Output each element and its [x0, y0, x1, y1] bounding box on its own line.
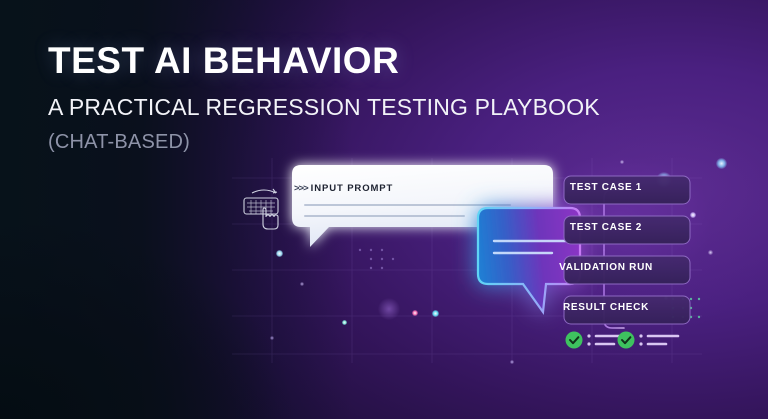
status-check-row-1: [566, 332, 625, 349]
chevron-marker: >>>: [294, 183, 308, 194]
illustration: >>>INPUT PROMPT TEST CASE 1 TEST CASE 2 …: [232, 158, 702, 363]
particle-glow: [716, 158, 727, 169]
flow-node-validation-run[interactable]: VALIDATION RUN: [550, 262, 662, 273]
page-title: TEST AI BEHAVIOR: [48, 42, 600, 81]
prompt-bubble-label-text: INPUT PROMPT: [311, 183, 394, 194]
page-tagline: (CHAT-BASED): [48, 131, 600, 153]
page-subtitle: A PRACTICAL REGRESSION TESTING PLAYBOOK: [48, 95, 600, 120]
dot-matrix-decoration-2: [359, 249, 394, 269]
prompt-bubble-label: >>>INPUT PROMPT: [294, 183, 393, 194]
flow-node-test-case-1[interactable]: TEST CASE 1: [550, 182, 662, 193]
banner-canvas: TEST AI BEHAVIOR A PRACTICAL REGRESSION …: [0, 0, 768, 419]
keyboard-hand-icon: [244, 189, 278, 229]
header-text-block: TEST AI BEHAVIOR A PRACTICAL REGRESSION …: [48, 42, 600, 153]
flow-node-result-check[interactable]: RESULT CHECK: [550, 302, 662, 313]
flow-node-test-case-2[interactable]: TEST CASE 2: [550, 222, 662, 233]
status-check-row-2: [618, 332, 679, 349]
particle-glow: [708, 250, 713, 255]
